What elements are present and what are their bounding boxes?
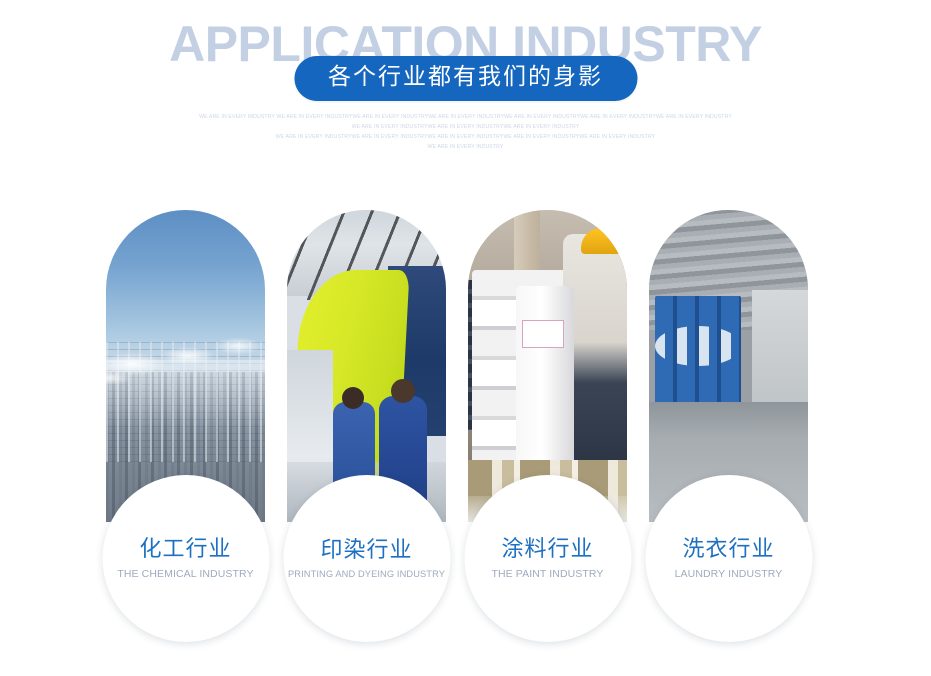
micro-line-3: WE ARE IN EVERY INDUSTRYWE ARE IN EVERY … <box>0 132 931 142</box>
industry-card-laundry[interactable]: 洗衣行业 LAUNDRY INDUSTRY <box>649 210 808 522</box>
banner-header: APPLICATION INDUSTRY 各个行业都有我们的身影 WE ARE … <box>0 0 931 170</box>
micro-line-4: WE ARE IN EVERY INDUSTRY <box>0 142 931 152</box>
industry-label-cn: 印染行业 <box>320 538 412 563</box>
industry-label-paint: 涂料行业 THE PAINT INDUSTRY <box>464 475 631 642</box>
industry-label-cn: 化工行业 <box>139 537 231 562</box>
industry-label-en: THE PAINT INDUSTRY <box>491 568 603 580</box>
micro-marquee-text: WE ARE IN EVERY INDUSTRY WE ARE IN EVERY… <box>0 112 931 152</box>
industry-card-chemical[interactable]: 化工行业 THE CHEMICAL INDUSTRY <box>106 210 265 522</box>
industry-card-printing-dyeing[interactable]: 印染行业 PRINTING AND DYEING INDUSTRY <box>287 210 446 522</box>
micro-line-1: WE ARE IN EVERY INDUSTRY WE ARE IN EVERY… <box>0 112 931 122</box>
industry-label-laundry: 洗衣行业 LAUNDRY INDUSTRY <box>645 475 812 642</box>
industry-label-en: LAUNDRY INDUSTRY <box>675 568 783 580</box>
application-industry-banner: APPLICATION INDUSTRY 各个行业都有我们的身影 WE ARE … <box>0 0 931 676</box>
industry-label-cn: 洗衣行业 <box>682 537 774 562</box>
industry-label-cn: 涂料行业 <box>501 537 593 562</box>
industry-label-en: PRINTING AND DYEING INDUSTRY <box>288 569 445 579</box>
industry-label-printing-dyeing: 印染行业 PRINTING AND DYEING INDUSTRY <box>283 475 450 642</box>
industry-label-en: THE CHEMICAL INDUSTRY <box>117 568 253 580</box>
industry-card-list: 化工行业 THE CHEMICAL INDUSTRY <box>106 210 838 620</box>
industry-label-chemical: 化工行业 THE CHEMICAL INDUSTRY <box>102 475 269 642</box>
tagline-badge: 各个行业都有我们的身影 <box>294 56 637 101</box>
industry-card-paint[interactable]: 涂料行业 THE PAINT INDUSTRY <box>468 210 627 522</box>
micro-line-2: WE ARE IN EVERY INDUSTRYWE ARE IN EVERY … <box>0 122 931 132</box>
